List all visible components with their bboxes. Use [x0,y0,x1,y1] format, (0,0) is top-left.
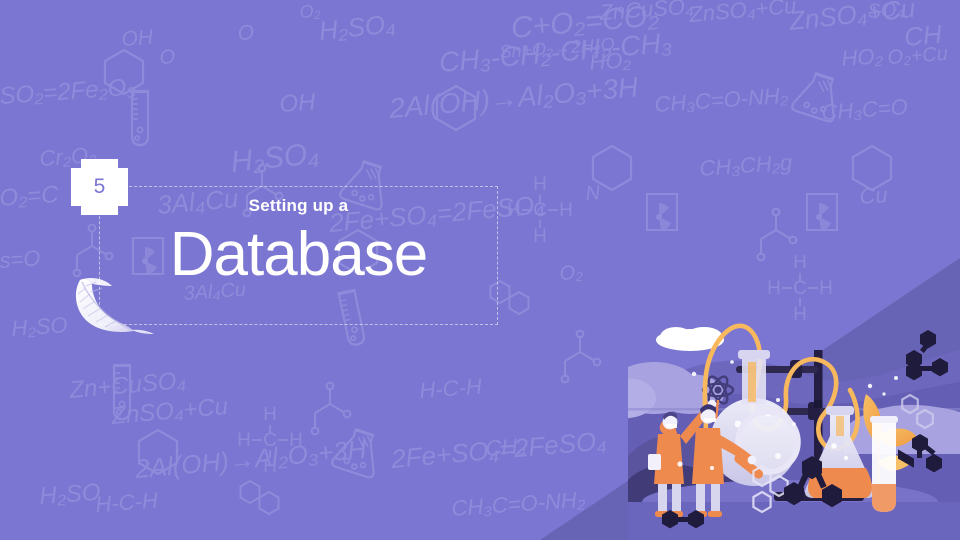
atom-icon [703,374,733,406]
scientist-left [648,400,716,517]
svg-text:O₂+Cu: O₂+Cu [887,43,949,69]
hill-far [628,350,960,540]
svg-text:2Al(OH)→Al₂O₃+3H: 2Al(OH)→Al₂O₃+3H [387,71,640,124]
svg-text:H-C-H: H-C-H [95,488,159,517]
svg-text:CH₃-CH₂-CH₂-CH₃: CH₃-CH₂-CH₂-CH₃ [438,27,673,78]
svg-text:C+O₂=CO₂: C+O₂=CO₂ [510,0,661,45]
hill-lavender-right [844,405,960,454]
ground-plate [642,480,938,524]
cloud-white [656,327,724,351]
svg-text:ZnSO₄+Cu: ZnSO₄+Cu [109,393,229,430]
svg-text:H₂SO: H₂SO [39,479,102,510]
molecule-outline-left [753,466,787,512]
cloud-lavender [628,362,724,418]
svg-text:Sn+O₂→2H₂O: Sn+O₂→2H₂O [499,34,615,62]
svg-text:H-C-H: H-C-H [419,374,483,403]
svg-text:CH: CH [903,19,943,52]
svg-text:H₂SO₄: H₂SO₄ [229,137,320,179]
ground-band [628,502,960,540]
slide-canvas: H H C H H OH O H₂SO₄ [0,0,960,540]
svg-text:HO₂: HO₂ [647,421,691,449]
svg-text:ZnCuSO₄: ZnCuSO₄ [598,0,695,25]
svg-text:O: O [237,21,255,45]
svg-text:2Al(OH)→Al₂O₃+3H: 2Al(OH)→Al₂O₃+3H [133,434,368,484]
slide-eyebrow: Setting up a [99,196,498,216]
plant-in-tube [863,394,916,512]
svg-text:O: O [159,46,176,69]
svg-text:O₂: O₂ [299,1,321,22]
svg-text:OH: OH [279,88,317,117]
svg-text:CH₃C=O: CH₃C=O [821,94,909,125]
svg-text:2Fe+SO₄=2FeSO₄: 2Fe+SO₄=2FeSO₄ [389,425,608,474]
science-laboratory-illustration [628,316,960,540]
svg-text:SO₄: SO₄ [867,0,905,23]
conical-flask [805,406,875,498]
svg-text:CH₃C=O: CH₃C=O [775,392,863,423]
svg-text:H₂SO₄: H₂SO₄ [317,8,396,46]
svg-text:CH₃CH₂g: CH₃CH₂g [699,150,794,181]
sparkle-dots [677,360,898,470]
svg-text:H₂SO: H₂SO [11,312,69,341]
molecule-dark-right [906,358,948,380]
svg-text:HO₂: HO₂ [841,43,885,71]
hill-mid [628,382,960,540]
slide-number-text: 5 [71,159,128,215]
svg-text:ZnSO₄+Cu: ZnSO₄+Cu [687,0,797,27]
svg-text:CH₄: CH₄ [485,433,527,461]
svg-text:ZnSO₄+Cu: ZnSO₄+Cu [786,0,916,36]
molecule-outline-right [902,395,933,428]
svg-text:N: N [585,182,601,205]
svg-text:O₂: O₂ [559,261,584,285]
svg-text:HO₂: HO₂ [589,47,633,75]
slide-headline: Database [99,222,498,289]
molecule-dark-mid [784,456,842,507]
molecule-dark-bottom-left [662,510,704,528]
svg-text:Zn+CuSO₄: Zn+CuSO₄ [67,367,187,404]
molecule-dark-lower-right [898,434,942,472]
magnifying-glass [733,412,798,480]
round-bottom-flask [710,350,798,486]
svg-text:CH₃C=O-NH₂: CH₃C=O-NH₂ [451,487,587,521]
mound-dark-left [628,464,748,526]
scientist-right [692,404,756,517]
lab-stand [736,350,864,501]
svg-text:CH₃C=O-NH₂: CH₃C=O-NH₂ [654,83,790,117]
svg-text:O₂=C: O₂=C [0,181,60,212]
svg-text:s=O: s=O [0,245,41,273]
atom-pointer [716,400,718,420]
coiled-tube [705,326,858,449]
svg-text:SO₂=2Fe₂O₃: SO₂=2Fe₂O₃ [0,74,137,110]
slide-number-badge: 5 [71,159,128,215]
molecule-dark-top-right [906,330,936,368]
svg-text:Cu: Cu [859,182,889,209]
mound-mid-left [628,434,778,516]
svg-text:OH: OH [121,26,155,51]
title-block: Setting up a Database [99,196,498,289]
